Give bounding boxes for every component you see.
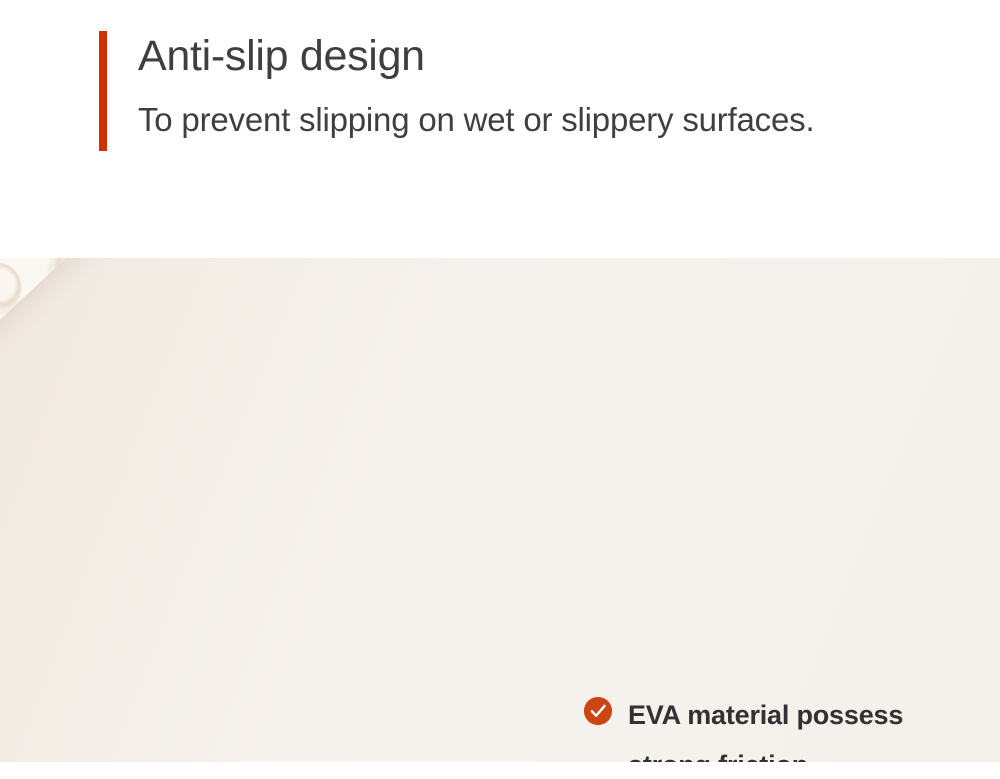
photo-backdrop bbox=[0, 258, 1000, 762]
page-subtitle: To prevent slipping on wet or slippery s… bbox=[138, 99, 814, 140]
feature-list: EVA material possess strong friction Non… bbox=[583, 690, 943, 762]
accent-bar bbox=[99, 31, 107, 151]
page-title: Anti-slip design bbox=[138, 33, 425, 80]
bottom-white-strip bbox=[0, 762, 1000, 779]
list-item: EVA material possess strong friction bbox=[583, 690, 943, 762]
header-section: Anti-slip design To prevent slipping on … bbox=[0, 0, 1000, 258]
feature-label: EVA material possess strong friction bbox=[628, 690, 943, 762]
check-circle-icon bbox=[583, 696, 613, 726]
product-feature-banner: Anti-slip design To prevent slipping on … bbox=[0, 0, 1000, 779]
product-photo: MADE IN EVA material possess strong fric… bbox=[0, 258, 1000, 762]
